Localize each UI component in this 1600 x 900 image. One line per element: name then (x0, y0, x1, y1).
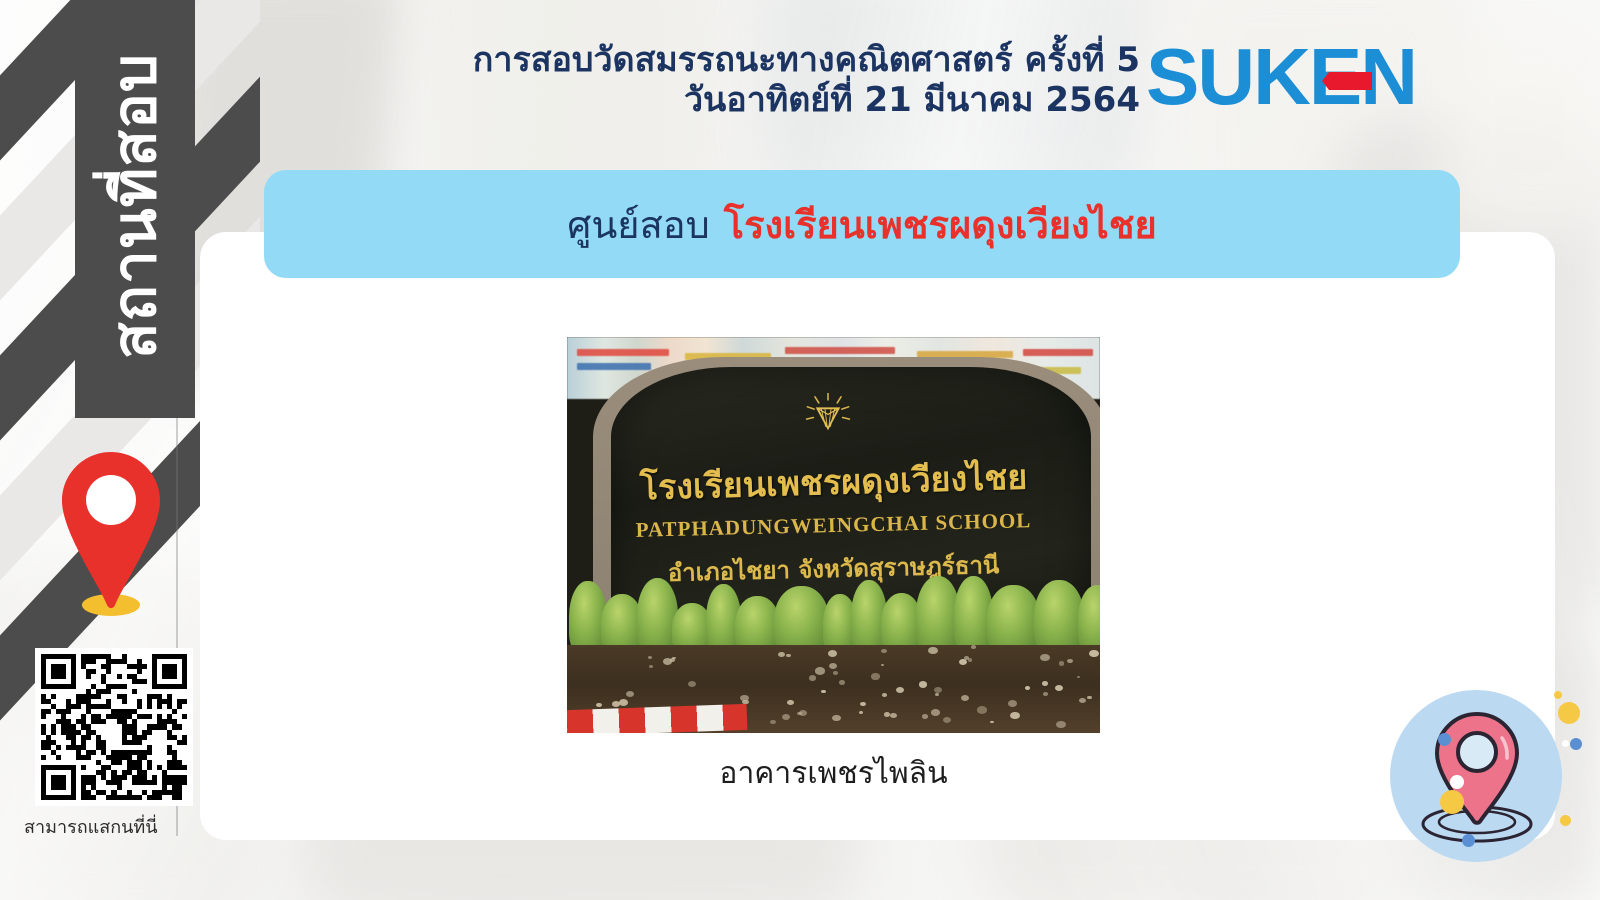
venue-name: โรงเรียนเพชรผดุงเวียงไชย (724, 203, 1157, 247)
decor-dot (1456, 800, 1463, 807)
suken-logo-text: SUKEN (1146, 37, 1416, 117)
qr-caption: สามารถแสกนที่นี่ (24, 812, 204, 841)
page-title: การสอบวัดสมรรถนะทางคณิตศาสตร์ ครั้งที่ 5… (240, 40, 1140, 120)
sidebar-label-text: สถานที่สอบ (105, 53, 165, 359)
decor-dot (1558, 702, 1580, 724)
map-pin-glyph (62, 452, 160, 612)
decor-dot (1562, 740, 1569, 747)
decor-dot (1560, 815, 1571, 826)
venue-banner-text: ศูนย์สอบโรงเรียนเพชรผดุงเวียงไชย (567, 194, 1157, 255)
venue-banner: ศูนย์สอบโรงเรียนเพชรผดุงเวียงไชย (264, 170, 1460, 278)
badge-pin-glyph (1372, 672, 1582, 882)
venue-label: ศูนย์สอบ (567, 203, 710, 247)
slide-root: สถานที่สอบ สามารถแสกนที่นี่ การสอบวัดสมร… (0, 0, 1600, 900)
decor-dot (1462, 834, 1475, 847)
qr-code-icon[interactable] (35, 648, 193, 806)
diamond-emblem-icon (805, 393, 851, 439)
title-line-1: การสอบวัดสมรรถนะทางคณิตศาสตร์ ครั้งที่ 5 (240, 40, 1140, 80)
sidebar-label-bar: สถานที่สอบ (75, 0, 195, 418)
photo-curb (567, 704, 747, 733)
photo-caption: อาคารเพชรไพลิน (567, 750, 1100, 797)
decor-dot (1450, 775, 1464, 789)
location-pin-badge-icon (1372, 672, 1582, 882)
decor-dot (1570, 738, 1582, 750)
suken-logo: SUKEN (1146, 38, 1416, 116)
venue-photo: โรงเรียนเพชรผดุงเวียงไชย PATPHADUNGWEING… (567, 337, 1100, 733)
map-pin-icon (52, 452, 172, 632)
decor-dot (1554, 691, 1562, 699)
decor-dot (1438, 733, 1451, 746)
arrow-left-icon (1322, 72, 1372, 90)
photo-shrubs (567, 569, 1100, 655)
title-line-2: วันอาทิตย์ที่ 21 มีนาคม 2564 (240, 80, 1140, 120)
